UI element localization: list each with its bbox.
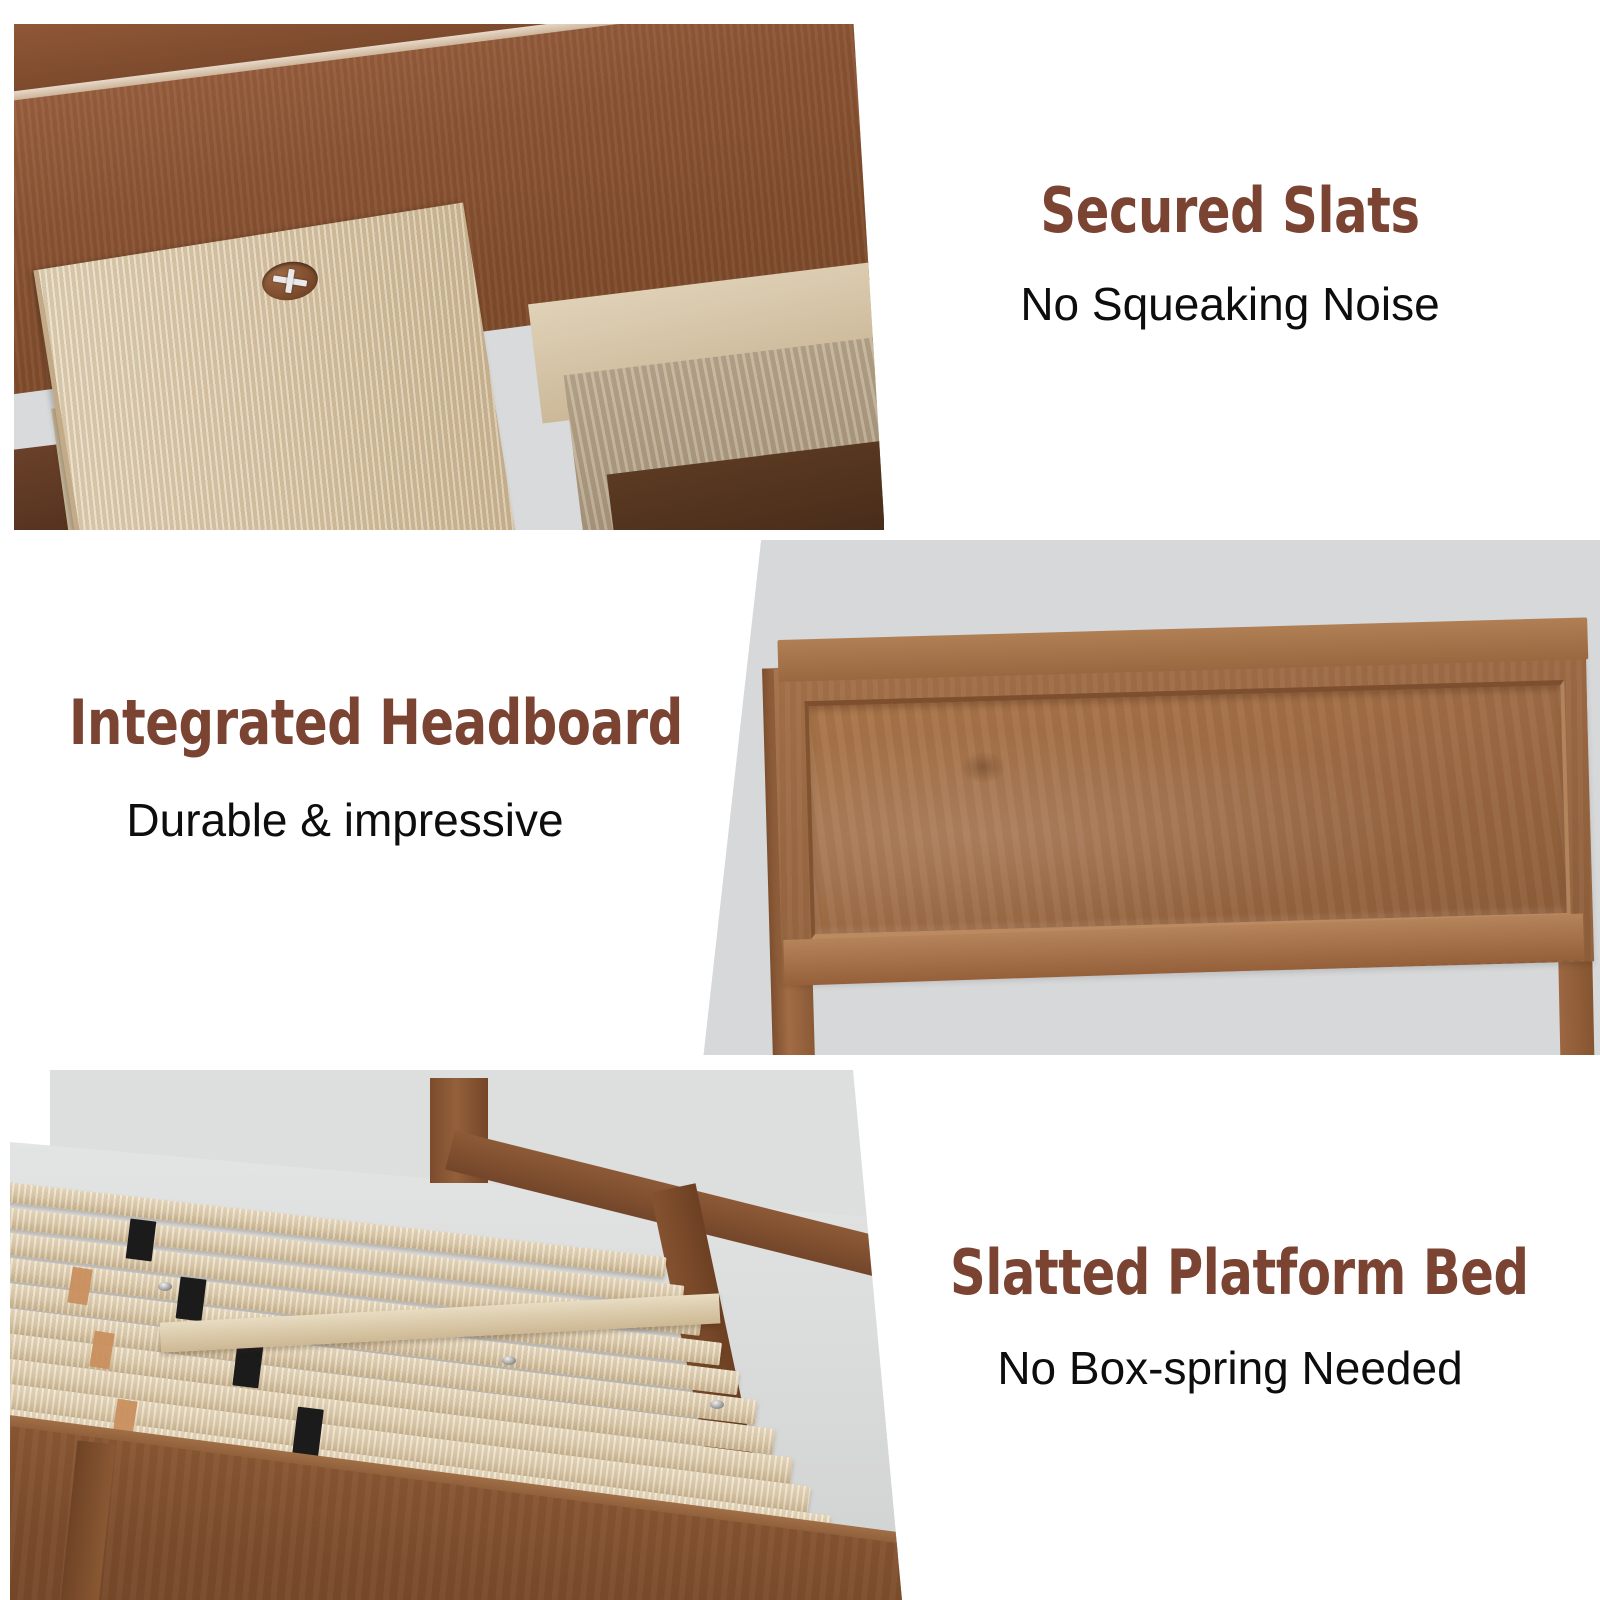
infographic-stage: Secured Slats No Squeaking Noise Integra… xyxy=(0,0,1600,1600)
feature-subline: No Squeaking Noise xyxy=(880,279,1580,330)
feature-headline: Slatted Platform Bed xyxy=(950,1240,1510,1305)
slat-screw-icon xyxy=(710,1400,724,1409)
slat-strap xyxy=(126,1219,157,1262)
feature-image-integrated-headboard xyxy=(700,540,1600,1055)
headboard-inset-panel xyxy=(805,680,1571,939)
feature-headline: Integrated Headboard xyxy=(69,690,621,755)
feature-image-slatted-platform-bed xyxy=(10,1070,902,1600)
feature-subline: No Box-spring Needed xyxy=(880,1343,1580,1394)
slat-strap xyxy=(176,1277,207,1322)
wood-knot xyxy=(960,751,1007,784)
feature-text-slatted-platform-bed: Slatted Platform Bed No Box-spring Neede… xyxy=(880,1240,1580,1394)
slat-screw-icon xyxy=(158,1282,172,1291)
feature-text-secured-slats: Secured Slats No Squeaking Noise xyxy=(880,178,1580,330)
feature-image-secured-slats xyxy=(14,24,884,530)
feature-headline: Secured Slats xyxy=(950,178,1510,243)
slat-screw-icon xyxy=(502,1356,516,1365)
feature-text-integrated-headboard: Integrated Headboard Durable & impressiv… xyxy=(0,690,690,846)
feature-subline: Durable & impressive xyxy=(0,795,690,846)
